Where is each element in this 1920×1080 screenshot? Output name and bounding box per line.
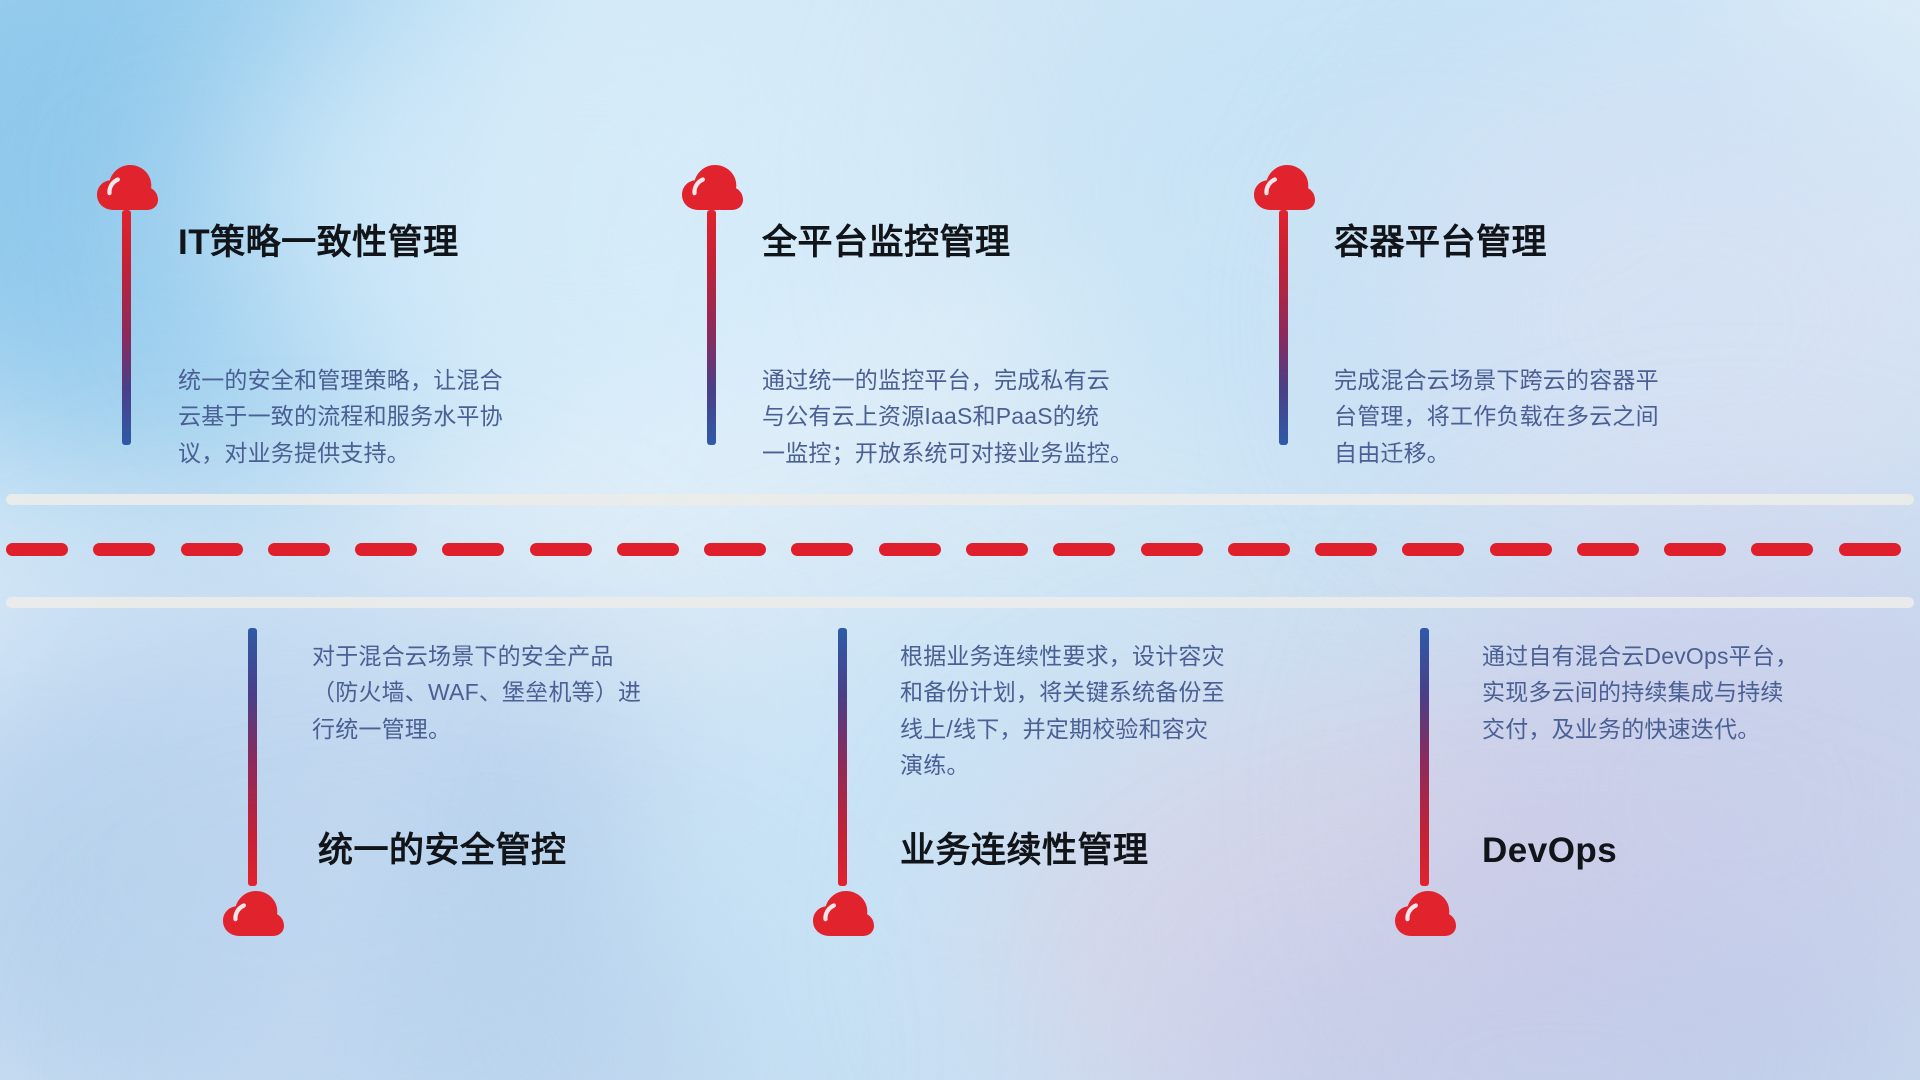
card-title-it-policy-consistency: IT策略一致性管理: [178, 225, 459, 260]
card-body-container-platform-management: 完成混合云场景下跨云的容器平 台管理，将工作负载在多云之间 自由迁移。: [1334, 362, 1784, 471]
card-body-business-continuity-management: 根据业务连续性要求，设计容灾 和备份计划，将关键系统备份至 线上/线下，并定期校…: [900, 638, 1330, 783]
divider-rule-top: [6, 494, 1914, 505]
marker-stem: [838, 628, 847, 886]
cloud-icon: [811, 886, 875, 938]
divider-dash-segment: [1751, 543, 1813, 556]
divider-dash-segment: [268, 543, 330, 556]
divider-dash-segment: [791, 543, 853, 556]
divider-dash-segment: [442, 543, 504, 556]
card-title-full-platform-monitoring: 全平台监控管理: [762, 225, 1011, 260]
divider-dash-segment: [1664, 543, 1726, 556]
marker-stem: [248, 628, 257, 886]
card-body-unified-security-control: 对于混合云场景下的安全产品 （防火墙、WAF、堡垒机等）进 行统一管理。: [312, 638, 742, 747]
card-body-it-policy-consistency: 统一的安全和管理策略，让混合 云基于一致的流程和服务水平协 议，对业务提供支持。: [178, 362, 618, 471]
divider-dash-segment: [1141, 543, 1203, 556]
divider-dash-segment: [93, 543, 155, 556]
card-title-business-continuity-management: 业务连续性管理: [900, 833, 1149, 868]
divider-dash-segment: [1577, 543, 1639, 556]
divider-rule-bottom: [6, 597, 1914, 608]
background-sheen: [0, 0, 1920, 1080]
marker-stem: [122, 210, 131, 445]
card-title-container-platform-management: 容器平台管理: [1334, 225, 1547, 260]
infographic-canvas: IT策略一致性管理 统一的安全和管理策略，让混合 云基于一致的流程和服务水平协 …: [0, 0, 1920, 1080]
divider-dash-segment: [355, 543, 417, 556]
cloud-icon: [1252, 160, 1316, 212]
divider-dash-segment: [1402, 543, 1464, 556]
divider-dash-segment: [1053, 543, 1115, 556]
cloud-icon: [221, 886, 285, 938]
divider-dashed-line: [0, 543, 1920, 556]
card-title-unified-security-control: 统一的安全管控: [318, 833, 567, 868]
marker-stem: [707, 210, 716, 445]
divider-dash-segment: [704, 543, 766, 556]
divider-dash-segment: [617, 543, 679, 556]
cloud-icon: [680, 160, 744, 212]
divider-dash-segment: [879, 543, 941, 556]
marker-stem: [1420, 628, 1429, 886]
divider-dash-segment: [530, 543, 592, 556]
divider-dash-segment: [181, 543, 243, 556]
card-body-full-platform-monitoring: 通过统一的监控平台，完成私有云 与公有云上资源IaaS和PaaS的统 一监控；开…: [762, 362, 1232, 471]
divider-dash-segment: [966, 543, 1028, 556]
cloud-icon: [1393, 886, 1457, 938]
marker-stem: [1279, 210, 1288, 445]
divider-dash-segment: [1839, 543, 1901, 556]
divider-dash-segment: [1228, 543, 1290, 556]
divider-dash-segment: [6, 543, 68, 556]
cloud-icon: [95, 160, 159, 212]
card-body-devops: 通过自有混合云DevOps平台， 实现多云间的持续集成与持续 交付，及业务的快速…: [1482, 638, 1912, 747]
card-title-devops: DevOps: [1482, 833, 1617, 868]
divider-dash-segment: [1315, 543, 1377, 556]
divider-dash-segment: [1490, 543, 1552, 556]
